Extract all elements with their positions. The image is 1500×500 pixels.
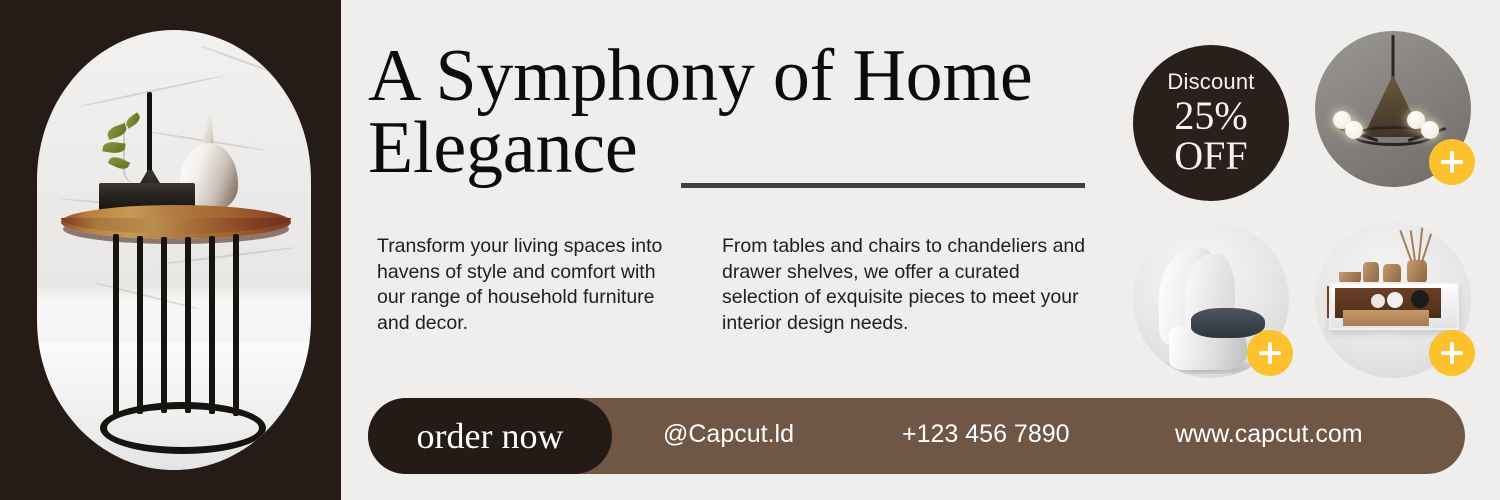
hero-panel bbox=[0, 0, 341, 500]
plus-icon bbox=[1450, 151, 1454, 173]
product-thumb-shelf[interactable] bbox=[1315, 222, 1471, 378]
add-product-button[interactable] bbox=[1429, 330, 1475, 376]
title-underline-rule bbox=[681, 183, 1085, 188]
armchair-seat bbox=[1191, 308, 1265, 338]
page-title: A Symphony of Home Elegance bbox=[368, 40, 1098, 184]
table-leg bbox=[233, 234, 239, 416]
table-leg bbox=[209, 236, 215, 414]
discount-percent: 25% bbox=[1174, 96, 1247, 136]
add-product-button[interactable] bbox=[1429, 139, 1475, 185]
discount-badge: Discount 25% OFF bbox=[1133, 45, 1289, 201]
plus-icon bbox=[1268, 342, 1272, 364]
decor-orb bbox=[1371, 294, 1385, 308]
plant-stem bbox=[123, 122, 151, 184]
wall-texture-vein bbox=[78, 74, 225, 107]
phone-number[interactable]: +123 456 7890 bbox=[902, 420, 1070, 449]
product-thumb-armchair[interactable] bbox=[1133, 222, 1289, 378]
decor-orb bbox=[1387, 292, 1403, 308]
table-leg bbox=[113, 234, 119, 416]
chandelier-bulb bbox=[1421, 121, 1439, 139]
table-leg bbox=[161, 237, 167, 413]
chandelier-cord bbox=[1392, 35, 1395, 79]
table-base-ring bbox=[100, 402, 266, 454]
wall-texture-vein bbox=[157, 246, 296, 265]
website-url[interactable]: www.capcut.com bbox=[1175, 420, 1363, 449]
product-thumb-chandelier[interactable] bbox=[1315, 31, 1471, 187]
wall-shelf-drawer bbox=[1343, 310, 1429, 326]
discount-label: Discount bbox=[1167, 70, 1254, 94]
wall-texture-vein bbox=[199, 45, 284, 78]
social-handle[interactable]: @Capcut.ld bbox=[663, 420, 794, 449]
discount-off-text: OFF bbox=[1174, 136, 1247, 176]
body-paragraph-right: From tables and chairs to chandeliers an… bbox=[722, 234, 1092, 336]
order-now-button[interactable]: order now bbox=[368, 398, 612, 474]
plus-icon bbox=[1450, 342, 1454, 364]
table-leg bbox=[137, 236, 143, 414]
table-leg bbox=[185, 237, 191, 413]
promo-banner: A Symphony of Home Elegance Transform yo… bbox=[0, 0, 1500, 500]
body-paragraph-left: Transform your living spaces into havens… bbox=[377, 234, 687, 336]
add-product-button[interactable] bbox=[1247, 330, 1293, 376]
decor-orb bbox=[1411, 290, 1429, 308]
hero-product-image bbox=[37, 30, 311, 470]
chandelier-bulb bbox=[1345, 121, 1363, 139]
